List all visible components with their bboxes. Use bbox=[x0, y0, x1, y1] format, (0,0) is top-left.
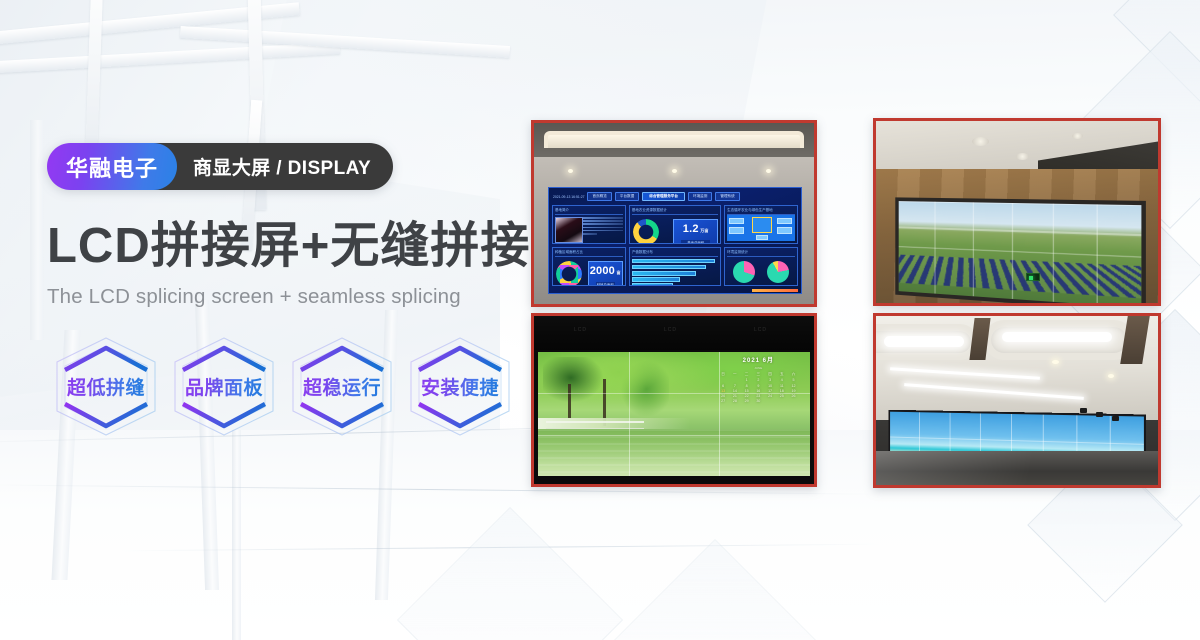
dashboard-header: 2021-09-13 16:51:27 首页概览 平台数据 综合管理服务平台 环… bbox=[552, 191, 798, 202]
kpi-block: 1.2万亩 基地总面积 bbox=[673, 219, 718, 244]
kpi-unit: 亩 bbox=[617, 270, 621, 275]
pie-chart-group bbox=[727, 259, 795, 284]
feature-badge-4: 安装便捷 bbox=[405, 334, 515, 439]
kpi-caption: 基地总面积 bbox=[681, 240, 710, 244]
brand-name: 华融电子 bbox=[47, 143, 177, 190]
card-title: 产值数据分布 bbox=[632, 250, 718, 257]
feature-badge-label: 超低拼缝 bbox=[67, 373, 145, 400]
dashboard-tab[interactable]: 首页概览 bbox=[587, 192, 611, 201]
feature-badge-list: 超低拼缝 品牌面板 超稳运行 bbox=[51, 334, 517, 439]
dashboard-tab[interactable]: 管理系统 bbox=[715, 192, 739, 201]
scene-control-room: 2021-09-13 16:51:27 首页概览 平台数据 综合管理服务平台 环… bbox=[534, 123, 814, 304]
kpi-unit: 万亩 bbox=[700, 228, 708, 233]
donut-chart bbox=[633, 219, 659, 244]
photo-control-room-dashboard[interactable]: 2021-09-13 16:51:27 首页概览 平台数据 综合管理服务平台 环… bbox=[531, 120, 817, 307]
dashboard-card-environment: 环境监测统计 bbox=[724, 247, 798, 286]
calendar-days: 12 34 5 67 89 1011 12 1314 1516 1718 19 … bbox=[718, 378, 800, 403]
kpi-value: 1.2 bbox=[683, 223, 699, 235]
calendar-title: 2021 6月 bbox=[718, 358, 800, 366]
wall-top-bezel: LCDLCDLCD bbox=[534, 316, 814, 350]
dashboard-timestamp: 2021-09-13 16:51:27 bbox=[552, 195, 584, 199]
kpi-caption: 种植总面积 bbox=[596, 282, 615, 286]
dashboard-screen: 2021-09-13 16:51:27 首页概览 平台数据 综合管理服务平台 环… bbox=[548, 187, 802, 294]
kpi-block: 2000亩 种植总面积 bbox=[588, 261, 623, 286]
photo-beach-boardwalk-video-wall[interactable] bbox=[873, 313, 1161, 488]
pillar bbox=[232, 430, 241, 640]
feature-badge-label: 超稳运行 bbox=[303, 373, 381, 400]
card-thumbnail bbox=[555, 217, 583, 243]
banner-copy: 华融电子 商显大屏 / DISPLAY LCD拼接屏+无缝拼接 The LCD … bbox=[47, 143, 517, 439]
lcd-video-wall bbox=[895, 197, 1146, 306]
brand-badge: 华融电子 商显大屏 / DISPLAY bbox=[47, 143, 393, 190]
feature-badge-1: 超低拼缝 bbox=[51, 334, 161, 439]
scene-exhibition-hall bbox=[876, 316, 1158, 485]
pie-chart bbox=[733, 261, 755, 283]
pie-chart bbox=[767, 261, 789, 283]
page-title: LCD拼接屏+无缝拼接 bbox=[47, 221, 517, 272]
dashboard-title: 综合管理服务平台 bbox=[642, 192, 685, 201]
dashboard-card-planting: 种植区域面积占比 2000亩 种植总面积 粮油 水产品 果蔬 畜禽类 bbox=[552, 247, 626, 286]
scene-wood-meeting-room bbox=[876, 121, 1158, 303]
feature-badge-label: 安装便捷 bbox=[421, 373, 499, 400]
feature-badge-3: 超稳运行 bbox=[287, 334, 397, 439]
photo-solar-farm-video-wall[interactable] bbox=[873, 118, 1161, 306]
scene-lcd-wall-closeup: LCDLCDLCD 2021 6月 JUNE bbox=[534, 316, 814, 484]
card-title: 基地简介 bbox=[555, 208, 623, 215]
calendar-weekdays: 日一 二三 四五 六 bbox=[718, 372, 800, 376]
exit-sign-icon bbox=[1026, 273, 1040, 281]
feature-badge-label: 品牌面板 bbox=[185, 373, 263, 400]
card-title: 种植区域面积占比 bbox=[555, 250, 623, 257]
card-title: 基地农业资源数据统计 bbox=[632, 208, 718, 215]
dashboard-footer-bar bbox=[752, 289, 798, 292]
kpi-value: 2000 bbox=[590, 265, 615, 277]
calendar-overlay: 2021 6月 JUNE 日一 二三 四五 六 12 34 5 bbox=[718, 358, 800, 413]
dashboard-card-resources: 基地农业资源数据统计 1.2万亩 基地总面积 种植 12% 农业服务中心 31 … bbox=[629, 205, 721, 244]
dashboard-card-output: 产值数据分布 bbox=[629, 247, 721, 286]
flow-diagram bbox=[727, 215, 795, 241]
dashboard-card-intro: 基地简介 bbox=[552, 205, 626, 244]
pillar bbox=[30, 120, 44, 340]
donut-chart bbox=[556, 261, 582, 286]
dashboard-tab[interactable]: 平台数据 bbox=[615, 192, 639, 201]
banner-root: 华融电子 商显大屏 / DISPLAY LCD拼接屏+无缝拼接 The LCD … bbox=[0, 0, 1200, 640]
card-title: 生态循环农业与绿色生产基地 bbox=[727, 208, 795, 215]
photo-lake-scenery-video-wall[interactable]: LCDLCDLCD 2021 6月 JUNE bbox=[531, 313, 817, 487]
card-title: 环境监测统计 bbox=[727, 250, 795, 257]
dashboard-tab[interactable]: 环境监测 bbox=[688, 192, 712, 201]
lcd-video-wall: 2021 6月 JUNE 日一 二三 四五 六 12 34 5 bbox=[538, 352, 810, 476]
dashboard-card-flowchart: 生态循环农业与绿色生产基地 bbox=[724, 205, 798, 244]
bar-chart bbox=[632, 259, 718, 286]
feature-badge-2: 品牌面板 bbox=[169, 334, 279, 439]
page-subtitle: The LCD splicing screen + seamless splic… bbox=[47, 285, 517, 309]
